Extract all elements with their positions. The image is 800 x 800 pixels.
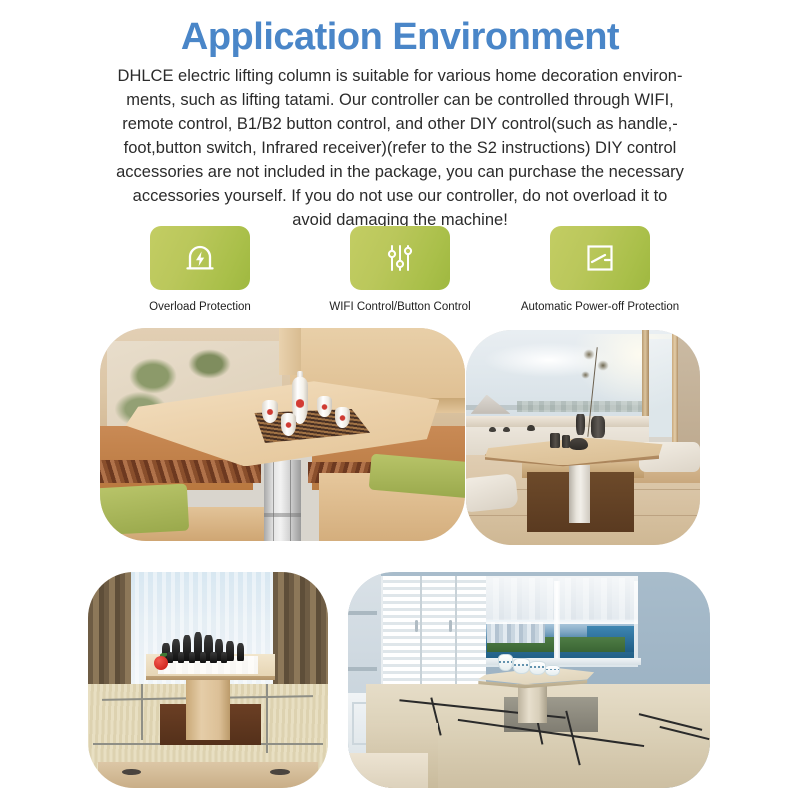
feature-label: Overload Protection (98, 301, 302, 313)
application-environment-page: Application Environment DHLCE electric l… (0, 0, 800, 800)
feature-badge (150, 226, 250, 290)
overload-protection-icon (183, 241, 217, 275)
feature-wifi-button-control: WIFI Control/Button Control (300, 226, 500, 313)
description-line: remote control, B1/B2 button control, an… (96, 112, 704, 136)
description-line: DHLCE electric lifting column is suitabl… (96, 64, 704, 88)
page-title: Application Environment (0, 18, 800, 58)
description-line: accessories yourself. If you do not use … (96, 184, 704, 208)
bluegray-room-platform-render: Rendered blue-gray room with white louve… (348, 572, 710, 788)
photo-scene (348, 572, 710, 788)
photo-scene (466, 330, 700, 545)
feature-automatic-power-off: Automatic Power-off Protection (500, 226, 700, 313)
feature-badge-row: Overload Protection WIFI Control/Button … (0, 226, 800, 316)
description-line: ments, such as lifting tatami. Our contr… (96, 88, 704, 112)
chess-lifting-table-render: Rendered tatami room with brown curtains… (88, 572, 328, 788)
slider-control-icon (383, 241, 417, 275)
feature-badge (350, 226, 450, 290)
feature-label: WIFI Control/Button Control (300, 301, 500, 313)
power-off-switch-icon (583, 241, 617, 275)
description-paragraph: DHLCE electric lifting column is suitabl… (96, 64, 704, 232)
tatami-sake-table-photo: Light wood electric lifting table raised… (100, 328, 465, 541)
feature-badge (550, 226, 650, 290)
description-line: foot,button switch, Infrared receiver)(r… (96, 136, 704, 160)
photo-scene (100, 328, 465, 541)
photo-scene (88, 572, 328, 788)
description-line: accessories are not included in the pack… (96, 160, 704, 184)
feature-label: Automatic Power-off Protection (500, 301, 700, 313)
feature-overload-protection: Overload Protection (98, 226, 302, 313)
window-tea-table-photo: Sunlit room with wooden lifting table ov… (466, 330, 700, 545)
